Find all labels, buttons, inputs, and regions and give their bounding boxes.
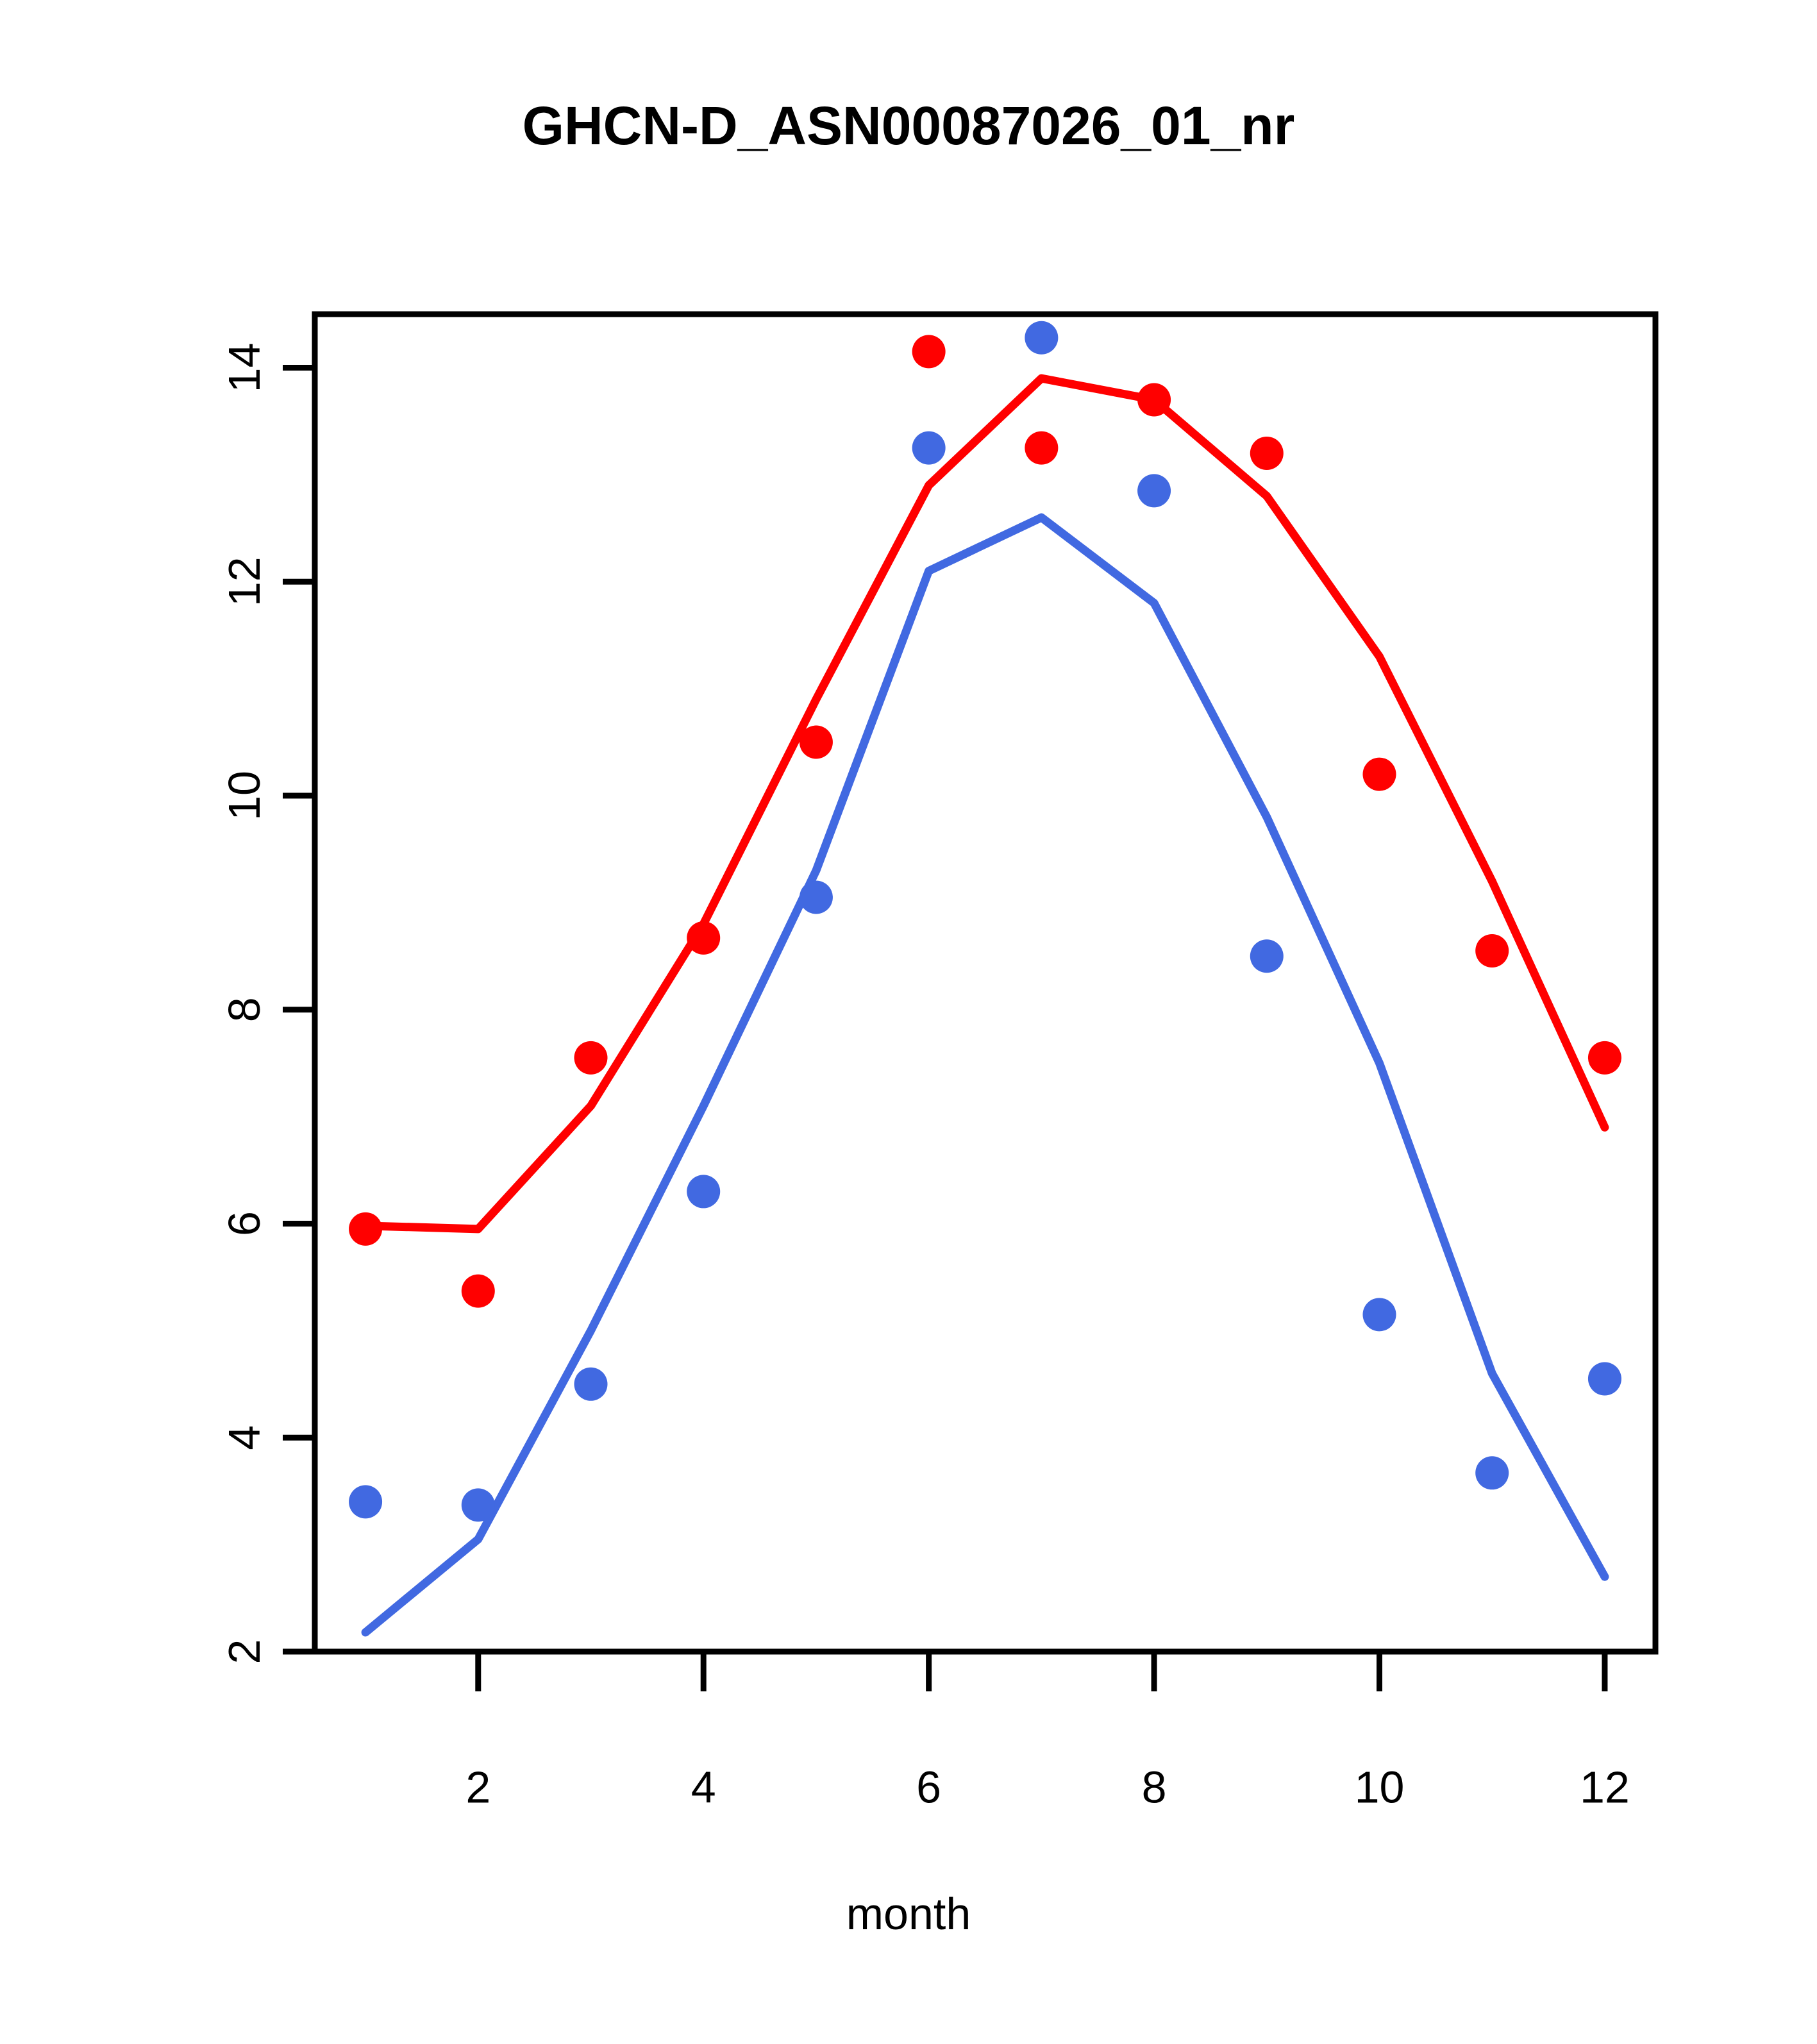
data-point-red-points — [912, 335, 946, 368]
x-tick-label: 4 — [691, 1762, 716, 1812]
y-tick-label: 2 — [219, 1639, 269, 1664]
x-axis: 24681012 — [465, 1652, 1630, 1812]
y-tick-label: 8 — [219, 997, 269, 1022]
data-point-red-points — [1250, 437, 1284, 470]
data-point-red-points — [687, 921, 720, 955]
plot-border — [315, 314, 1655, 1652]
y-tick-label: 4 — [219, 1425, 269, 1450]
data-point-red-points — [1025, 431, 1058, 465]
data-point-red-points — [574, 1041, 608, 1075]
data-point-red-points — [349, 1212, 382, 1246]
data-point-blue-points — [349, 1485, 382, 1518]
data-point-blue-points — [574, 1368, 608, 1401]
y-tick-label: 6 — [219, 1211, 269, 1236]
data-point-blue-points — [687, 1175, 720, 1208]
y-tick-label: 10 — [219, 771, 269, 821]
data-point-blue-points — [1025, 321, 1058, 355]
x-axis-label: month — [0, 1888, 1817, 1939]
data-point-red-points — [462, 1275, 495, 1308]
data-point-red-points — [800, 726, 833, 759]
x-tick-label: 10 — [1355, 1762, 1405, 1812]
data-point-blue-points — [1363, 1298, 1396, 1331]
data-point-blue-points — [462, 1488, 495, 1521]
data-point-blue-points — [1137, 474, 1171, 507]
x-tick-label: 8 — [1142, 1762, 1167, 1812]
data-point-red-points — [1363, 758, 1396, 791]
data-point-blue-points — [1588, 1362, 1621, 1395]
x-tick-label: 12 — [1580, 1762, 1630, 1812]
data-point-red-points — [1588, 1041, 1621, 1075]
data-point-red-points — [1137, 383, 1171, 417]
data-point-blue-points — [1250, 939, 1284, 973]
x-tick-label: 2 — [465, 1762, 490, 1812]
chart-canvas: 2468101214 24681012 — [0, 0, 1817, 2044]
y-tick-label: 12 — [219, 557, 269, 607]
x-tick-label: 6 — [916, 1762, 941, 1812]
chart-page: GHCN-D_ASN00087026_01_nr 2468101214 2468… — [0, 0, 1817, 2044]
data-point-red-points — [1475, 934, 1509, 968]
data-point-blue-points — [912, 431, 946, 465]
y-tick-label: 14 — [219, 343, 269, 393]
data-point-blue-points — [1475, 1456, 1509, 1489]
data-point-blue-points — [800, 881, 833, 914]
plot-frame — [315, 314, 1655, 1652]
y-axis: 2468101214 — [219, 343, 315, 1664]
